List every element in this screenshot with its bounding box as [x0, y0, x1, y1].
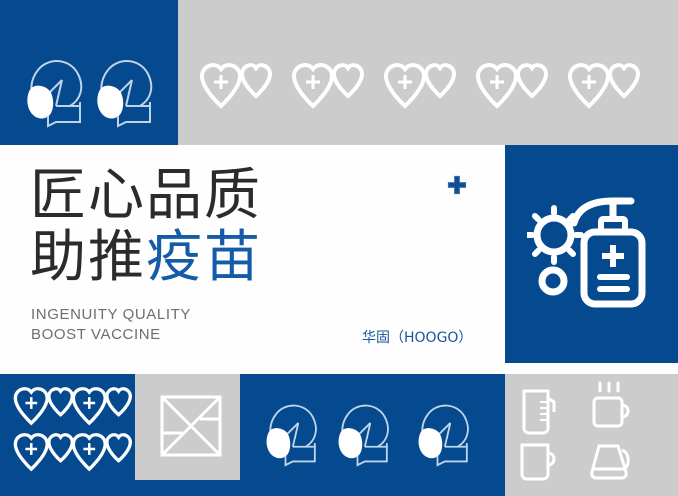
mug-icon: [518, 440, 562, 489]
headline-line-2: 助推疫苗: [30, 227, 262, 289]
double-heart-plus-icon: [198, 62, 272, 119]
subtitle: INGENUITY QUALITY BOOST VACCINE: [31, 305, 191, 345]
broken-image-placeholder-icon: [160, 395, 222, 462]
headline-line-2-prefix: 助推: [30, 225, 146, 290]
double-heart-plus-icon: [70, 386, 132, 435]
measuring-beaker-icon: [518, 388, 560, 441]
steaming-mug-icon: [590, 380, 634, 439]
masked-head-profile-icon: [330, 395, 396, 476]
masked-head-profile-icon: [88, 50, 160, 137]
poster-canvas: 匠心品质 助推疫苗 INGENUITY QUALITY BOOST VACCIN…: [0, 0, 678, 496]
kettle-icon: [588, 438, 634, 489]
plus-cross-icon: [447, 175, 467, 200]
double-heart-plus-icon: [566, 62, 640, 119]
subtitle-line-2: BOOST VACCINE: [31, 325, 191, 345]
double-heart-plus-icon: [12, 432, 74, 481]
broken-image-placeholder: [135, 374, 240, 480]
top-left-blue-panel: [0, 0, 178, 145]
headline-line-2-accent: 疫苗: [146, 225, 262, 290]
masked-head-profile-icon: [258, 395, 324, 476]
double-heart-plus-icon: [382, 62, 456, 119]
brand-name: 华固（HOOGO）: [362, 327, 472, 347]
double-heart-plus-icon: [70, 432, 132, 481]
subtitle-line-1: INGENUITY QUALITY: [31, 305, 191, 325]
page-title: 匠心品质 助推疫苗: [30, 165, 262, 289]
double-heart-plus-icon: [290, 62, 364, 119]
headline-line-1: 匠心品质: [30, 165, 262, 227]
sanitizer-blue-panel: [505, 145, 678, 363]
masked-head-profile-icon: [18, 50, 90, 137]
masked-head-profile-icon: [410, 395, 476, 476]
sanitizer-pump-bottle-icon: [527, 193, 657, 323]
double-heart-plus-icon: [474, 62, 548, 119]
headline-white-panel: 匠心品质 助推疫苗 INGENUITY QUALITY BOOST VACCIN…: [0, 145, 505, 363]
double-heart-plus-icon: [12, 386, 74, 435]
